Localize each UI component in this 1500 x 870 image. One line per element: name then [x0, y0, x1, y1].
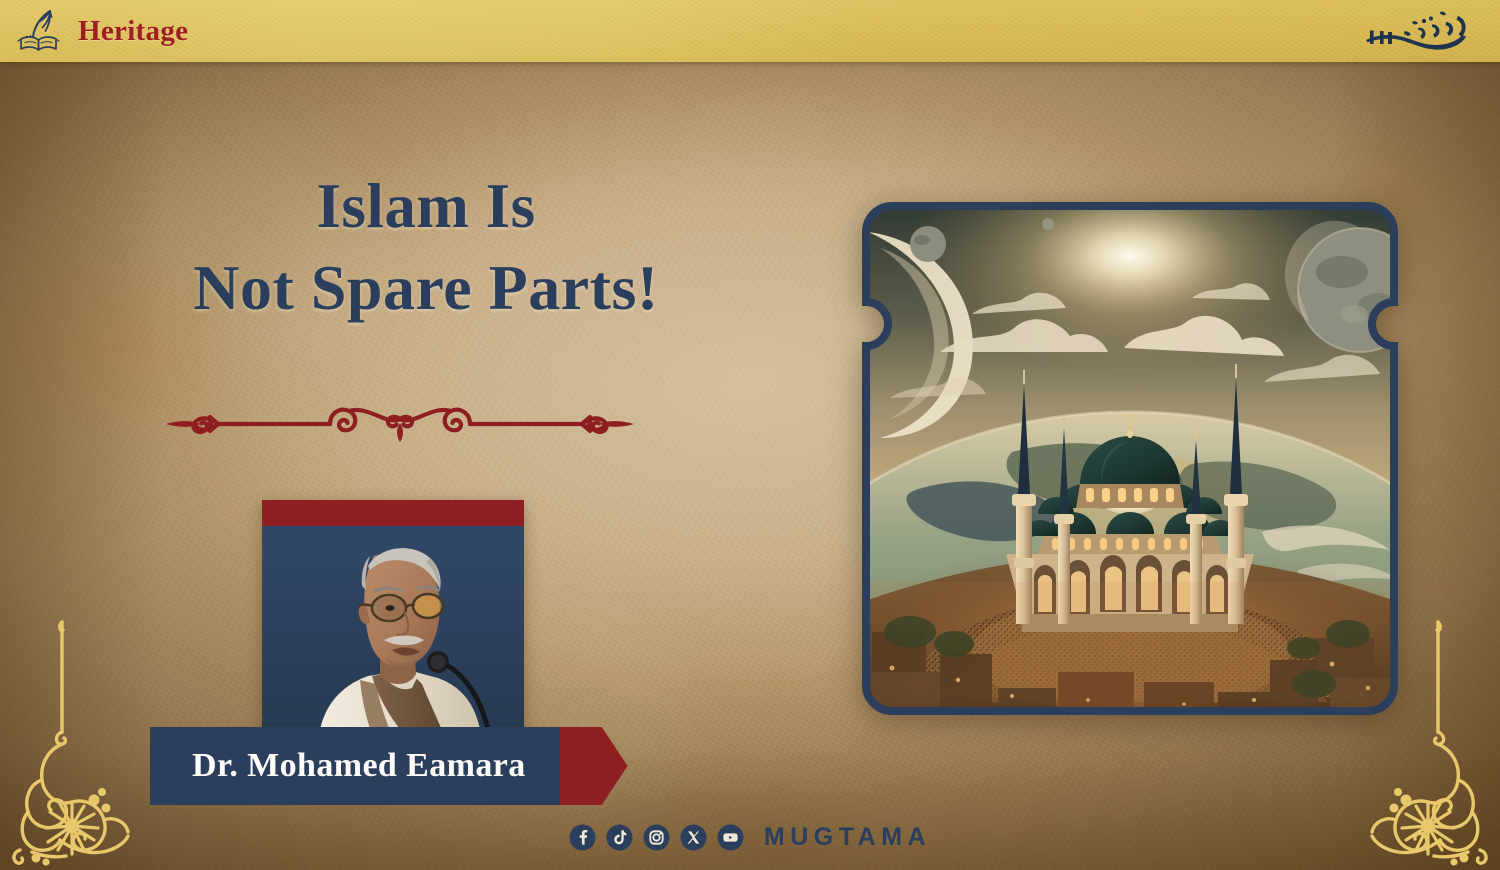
quill-and-book-icon	[16, 7, 68, 55]
facebook-icon[interactable]	[569, 824, 596, 851]
header-bar: Heritage	[0, 0, 1500, 62]
headline-block: Islam Is Not Spare Parts!	[96, 166, 756, 329]
banner-arrow-tip	[560, 727, 628, 805]
speaker-portrait	[262, 500, 524, 745]
category-label: Heritage	[78, 15, 188, 48]
youtube-icon[interactable]	[717, 824, 744, 851]
poster-canvas: Heritage	[0, 0, 1500, 870]
instagram-icon[interactable]	[643, 824, 670, 851]
illustration-frame[interactable]	[862, 202, 1398, 715]
brand-name: MUGTAMA	[764, 823, 931, 852]
ornamental-divider	[140, 395, 660, 453]
speaker-name-banner: Dr. Mohamed Eamara	[150, 727, 628, 805]
footer-social-bar: MUGTAMA	[0, 823, 1500, 852]
tiktok-icon[interactable]	[606, 824, 633, 851]
headline-line-1: Islam Is	[96, 166, 756, 247]
speaker-name-plate: Dr. Mohamed Eamara	[150, 727, 560, 805]
portrait-accent-bar	[262, 500, 524, 526]
headline-line-2: Not Spare Parts!	[96, 247, 756, 329]
mugtama-arabic-logo[interactable]	[1358, 4, 1478, 58]
speaker-photo	[262, 500, 524, 745]
speaker-name: Dr. Mohamed Eamara	[192, 747, 526, 785]
x-icon[interactable]	[680, 824, 707, 851]
